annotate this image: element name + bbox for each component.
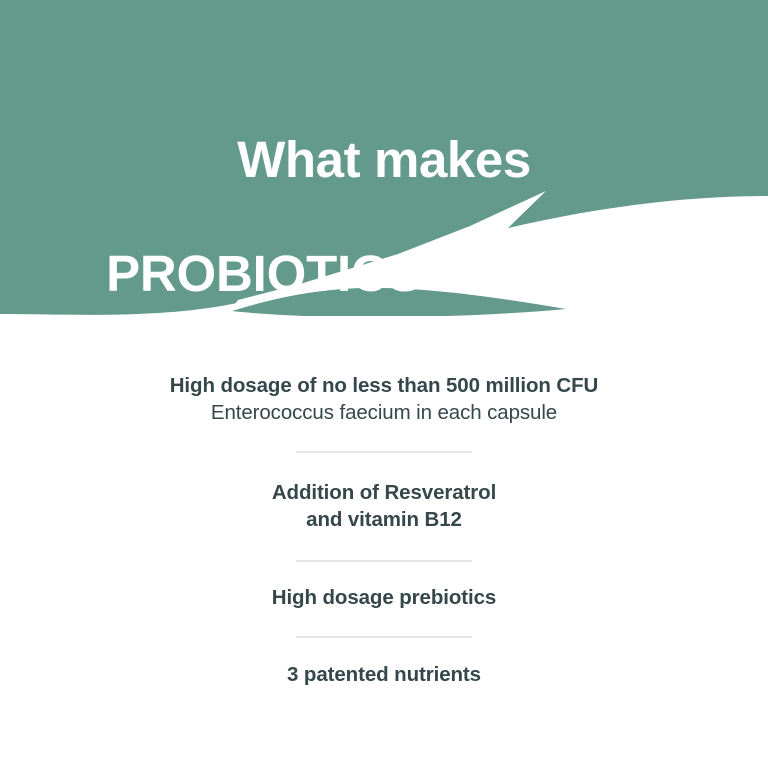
feature-item-2-line-1: Addition of Resveratrol <box>0 479 768 506</box>
feature-item-2-line-2: and vitamin B12 <box>0 506 768 533</box>
feature-item-3: High dosage prebiotics <box>0 584 768 611</box>
spacer <box>0 562 768 584</box>
spacer <box>0 611 768 636</box>
feature-item-4-line-1: 3 patented nutrients <box>0 661 768 688</box>
hero-banner: What makes PROBIOTICS+ unique? <box>0 0 768 330</box>
probiotics-info-poster: What makes PROBIOTICS+ unique? High dosa… <box>0 0 768 768</box>
feature-list: High dosage of no less than 500 million … <box>0 372 768 688</box>
feature-item-2: Addition of Resveratrol and vitamin B12 <box>0 479 768 533</box>
page-title: What makes PROBIOTICS+ unique? <box>0 74 768 359</box>
feature-item-3-line-1: High dosage prebiotics <box>0 584 768 611</box>
feature-item-1-line-1: High dosage of no less than 500 million … <box>0 372 768 399</box>
spacer <box>0 533 768 560</box>
feature-item-1-line-2: Enterococcus faecium in each capsule <box>0 399 768 426</box>
feature-item-4: 3 patented nutrients <box>0 661 768 688</box>
page-title-line-2: PROBIOTICS+ unique? <box>0 245 768 302</box>
spacer <box>0 453 768 479</box>
spacer <box>0 426 768 451</box>
spacer <box>0 638 768 661</box>
page-title-line-1: What makes <box>0 131 768 188</box>
feature-item-1: High dosage of no less than 500 million … <box>0 372 768 426</box>
